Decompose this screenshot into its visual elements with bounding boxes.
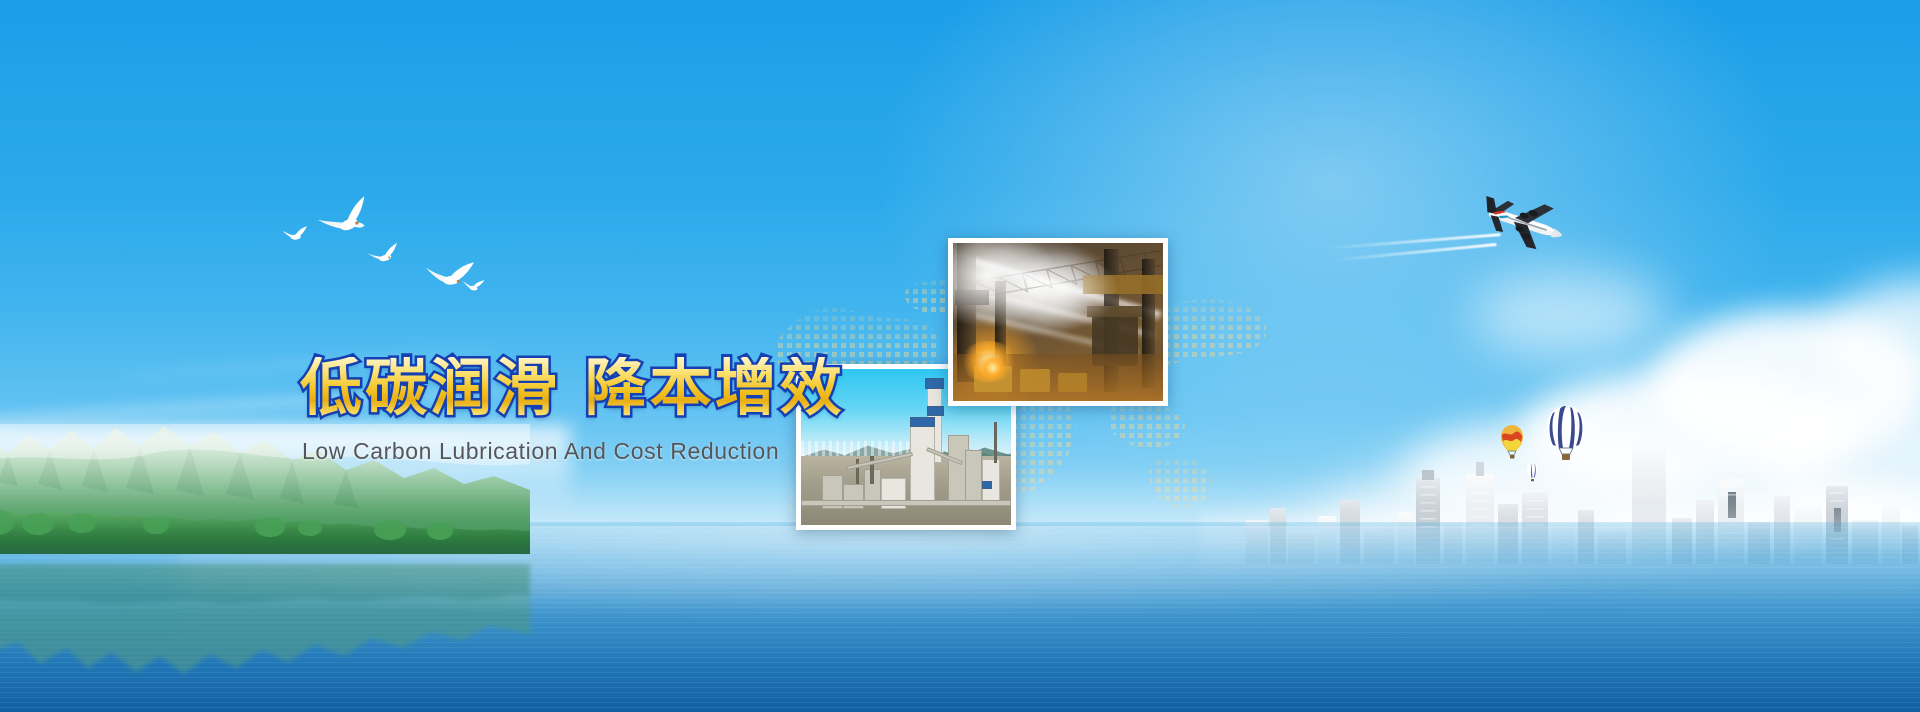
hot-air-balloon-large-icon <box>1546 405 1586 463</box>
hero-banner: 低碳润滑 降本增效 低碳润滑 降本增效 Low Carbon Lubricati… <box>0 0 1920 712</box>
airliner-jet-icon <box>1478 190 1564 254</box>
island-water-reflection <box>0 554 530 682</box>
hot-air-balloon-orange-icon <box>1500 424 1524 460</box>
photo-steel-mill[interactable] <box>948 238 1168 406</box>
page-subtitle: Low Carbon Lubrication And Cost Reductio… <box>302 438 779 465</box>
hot-air-balloon-small-icon <box>1526 462 1539 482</box>
page-title: 低碳润滑 降本增效 <box>300 357 845 419</box>
